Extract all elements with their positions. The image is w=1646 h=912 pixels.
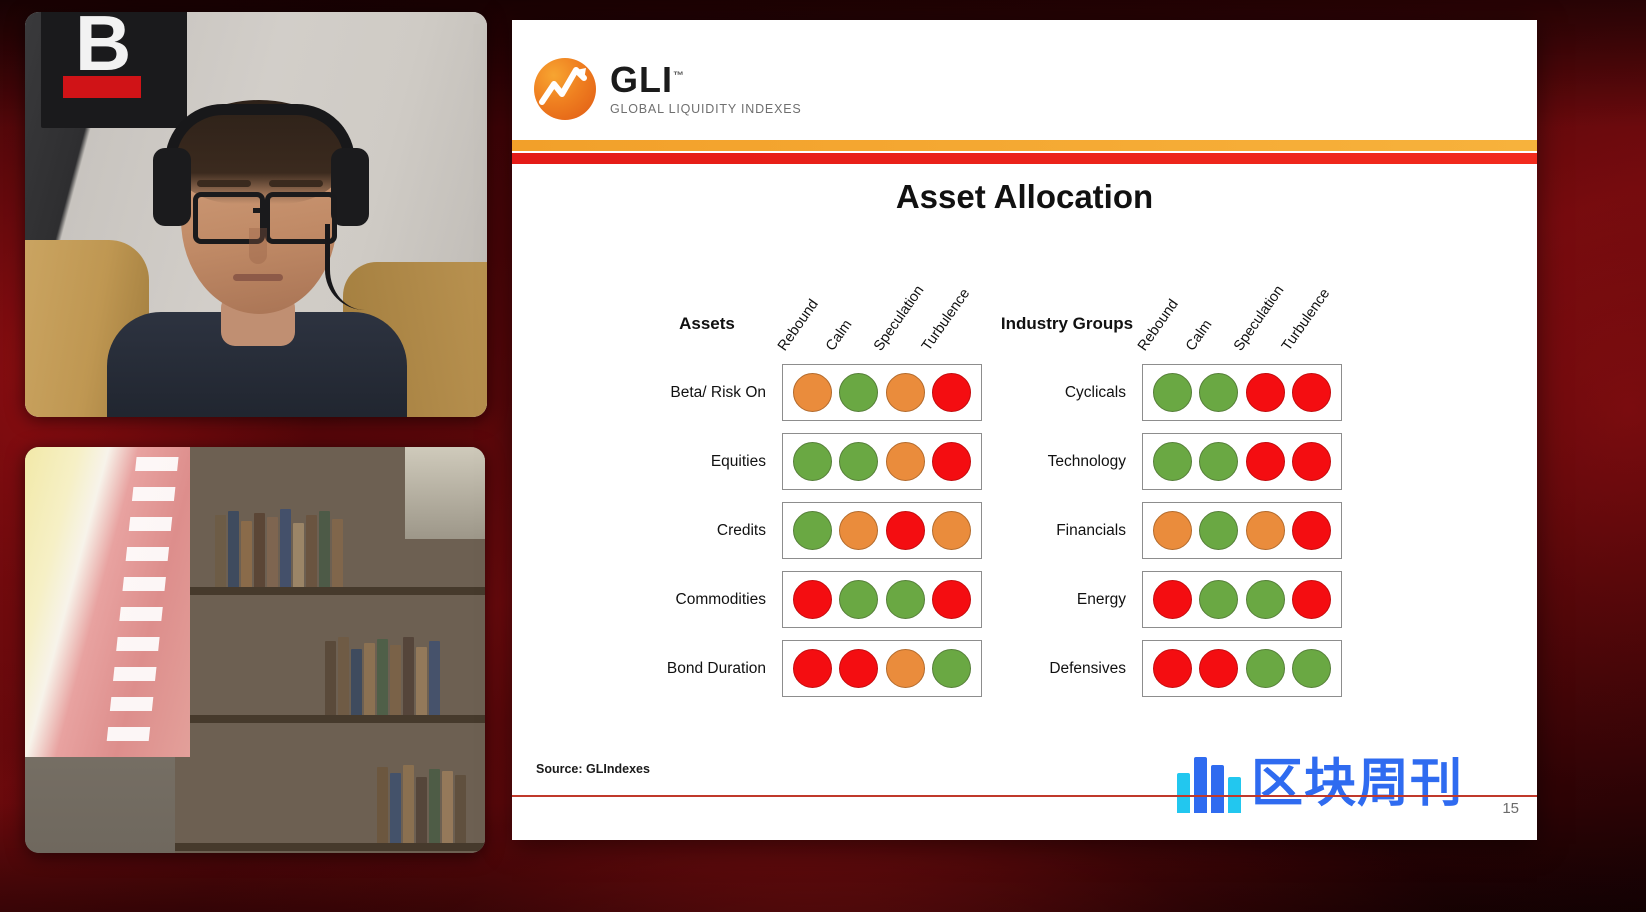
status-dot-green (1292, 649, 1331, 688)
status-dot-red (793, 580, 832, 619)
row-cell-box (1142, 433, 1342, 490)
speaker-mouth (233, 274, 283, 281)
header-bar-red (512, 153, 1537, 164)
column-header-group: ReboundCalmSpeculationTurbulence (782, 270, 982, 358)
status-dot-orange (886, 649, 925, 688)
page-number: 15 (1502, 800, 1519, 817)
logo-title: GLI (610, 59, 673, 100)
video-tile-speaker-bottom[interactable] (25, 447, 485, 853)
status-dot-orange (1246, 511, 1285, 550)
row-cell-box (1142, 502, 1342, 559)
gli-logo: GLI™ GLOBAL LIQUIDITY INDEXES (534, 58, 801, 120)
row-cell-box (782, 502, 982, 559)
status-dot-red (1292, 442, 1331, 481)
status-dot-red (839, 649, 878, 688)
status-dot-red (1153, 580, 1192, 619)
status-dot-green (839, 373, 878, 412)
row-label: Equities (632, 453, 782, 471)
status-dot-green (1246, 649, 1285, 688)
matrix-row: Defensives (992, 634, 1342, 703)
column-header-rebound: Rebound (1135, 297, 1182, 354)
matrix-row: Bond Duration (632, 634, 982, 703)
status-dot-orange (839, 511, 878, 550)
status-dot-orange (793, 373, 832, 412)
status-dot-green (839, 442, 878, 481)
matrix-industry-groups: Industry GroupsReboundCalmSpeculationTur… (992, 270, 1342, 703)
matrix-title: Industry Groups (992, 314, 1142, 334)
header-bar-orange (512, 140, 1537, 151)
gli-logo-icon (534, 58, 596, 120)
status-dot-red (1292, 580, 1331, 619)
status-dot-orange (932, 511, 971, 550)
source-note: Source: GLIndexes (536, 762, 650, 776)
presentation-slide[interactable]: GLI™ GLOBAL LIQUIDITY INDEXES Asset Allo… (512, 20, 1537, 840)
status-dot-red (793, 649, 832, 688)
status-dot-orange (886, 373, 925, 412)
row-label: Commodities (632, 591, 782, 609)
wall-poster: B (41, 12, 187, 128)
status-dot-red (1199, 649, 1238, 688)
status-dot-red (932, 442, 971, 481)
status-dot-green (886, 580, 925, 619)
status-dot-green (932, 649, 971, 688)
matrix-title: Assets (632, 314, 782, 334)
column-header-rebound: Rebound (775, 297, 822, 354)
status-dot-green (1153, 442, 1192, 481)
shelf-plank (175, 587, 485, 595)
status-dot-red (1246, 442, 1285, 481)
row-cell-box (782, 640, 982, 697)
book-row (215, 509, 343, 587)
book-row (377, 765, 466, 843)
status-dot-red (1246, 373, 1285, 412)
row-cell-box (1142, 640, 1342, 697)
matrix-row: Financials (992, 496, 1342, 565)
headphone-band (165, 104, 355, 162)
status-dot-red (932, 580, 971, 619)
flag-serrated-edge (105, 457, 178, 753)
row-label: Energy (992, 591, 1142, 609)
flag-banner (25, 447, 190, 757)
column-header-calm: Calm (823, 317, 856, 354)
eyebrow-left (197, 180, 251, 187)
book-row (325, 637, 440, 715)
matrix-assets: AssetsReboundCalmSpeculationTurbulenceBe… (632, 270, 982, 703)
status-dot-green (793, 511, 832, 550)
shelf-plank (175, 715, 485, 723)
status-dot-red (932, 373, 971, 412)
status-dot-green (1153, 373, 1192, 412)
headset-microphone (325, 224, 392, 310)
video-tile-speaker-top[interactable]: B (25, 12, 487, 417)
row-cell-box (782, 364, 982, 421)
matrix-row: Beta/ Risk On (632, 358, 982, 427)
status-dot-green (1246, 580, 1285, 619)
row-label: Technology (992, 453, 1142, 471)
footer-rule (512, 795, 1537, 797)
row-label: Beta/ Risk On (632, 384, 782, 402)
poster-letter-b: B (75, 14, 121, 74)
matrix-row: Energy (992, 565, 1342, 634)
watermark-bars-icon (1177, 755, 1241, 813)
status-dot-green (793, 442, 832, 481)
shelf-plank (175, 843, 485, 851)
watermark-text: 区块周刊 (1251, 758, 1463, 810)
row-label: Defensives (992, 660, 1142, 678)
status-dot-green (1199, 580, 1238, 619)
row-label: Financials (992, 522, 1142, 540)
row-cell-box (1142, 364, 1342, 421)
matrix-row: Commodities (632, 565, 982, 634)
headphone-cup-left (153, 148, 191, 226)
logo-subtitle: GLOBAL LIQUIDITY INDEXES (610, 103, 801, 116)
matrix-row: Cyclicals (992, 358, 1342, 427)
status-dot-red (1153, 649, 1192, 688)
logo-trademark: ™ (673, 70, 685, 82)
matrix-row: Technology (992, 427, 1342, 496)
row-label: Cyclicals (992, 384, 1142, 402)
watermark: 区块周刊 (1177, 755, 1463, 813)
column-header-group: ReboundCalmSpeculationTurbulence (1142, 270, 1342, 358)
slide-title: Asset Allocation (512, 178, 1537, 216)
row-cell-box (782, 433, 982, 490)
status-dot-red (1292, 511, 1331, 550)
status-dot-green (1199, 511, 1238, 550)
eyebrow-right (269, 180, 323, 187)
status-dot-red (886, 511, 925, 550)
status-dot-green (1199, 373, 1238, 412)
row-label: Credits (632, 522, 782, 540)
column-header-calm: Calm (1183, 317, 1216, 354)
column-header-turbulence: Turbulence (1279, 286, 1333, 354)
status-dot-orange (1153, 511, 1192, 550)
row-label: Bond Duration (632, 660, 782, 678)
matrix-row: Equities (632, 427, 982, 496)
row-cell-box (1142, 571, 1342, 628)
speaker-nose (249, 228, 267, 264)
column-header-turbulence: Turbulence (919, 286, 973, 354)
row-cell-box (782, 571, 982, 628)
matrix-row: Credits (632, 496, 982, 565)
status-dot-green (1199, 442, 1238, 481)
status-dot-red (1292, 373, 1331, 412)
lamp-shade (405, 447, 485, 539)
status-dot-orange (886, 442, 925, 481)
eyeglass-bridge (253, 208, 269, 213)
status-dot-green (839, 580, 878, 619)
poster-red-bar (63, 76, 141, 98)
